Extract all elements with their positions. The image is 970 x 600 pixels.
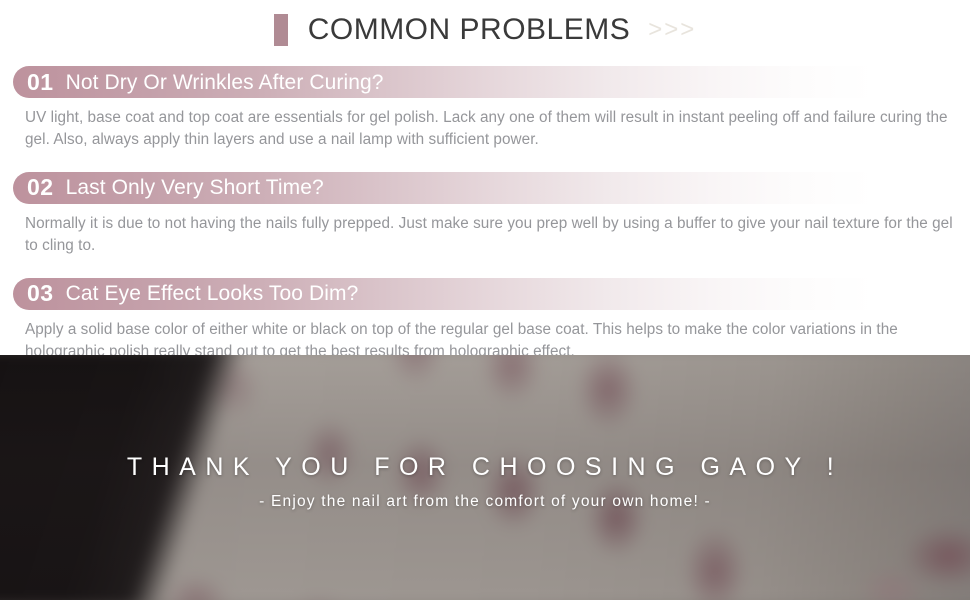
faq-question-banner: 02 Last Only Very Short Time? bbox=[13, 172, 970, 204]
infographic-page: COMMON PROBLEMS >>> 01 Not Dry Or Wrinkl… bbox=[0, 0, 970, 600]
faq-question-text: Last Only Very Short Time? bbox=[66, 177, 324, 198]
faq-question-text: Cat Eye Effect Looks Too Dim? bbox=[66, 283, 359, 304]
faq-item: 03 Cat Eye Effect Looks Too Dim? Apply a… bbox=[0, 278, 970, 364]
thank-you-headline: THANK YOU FOR CHOOSING GAOY ! bbox=[0, 453, 970, 482]
footer-copy: THANK YOU FOR CHOOSING GAOY ! - Enjoy th… bbox=[0, 453, 970, 511]
chevrons-right-icon: >>> bbox=[648, 16, 696, 44]
footer-photo-banner: THANK YOU FOR CHOOSING GAOY ! - Enjoy th… bbox=[0, 355, 970, 600]
faq-item: 01 Not Dry Or Wrinkles After Curing? UV … bbox=[0, 66, 970, 152]
faq-number-badge: 03 bbox=[27, 282, 54, 305]
thank-you-subline: - Enjoy the nail art from the comfort of… bbox=[0, 493, 970, 511]
page-title: COMMON PROBLEMS bbox=[308, 13, 631, 47]
faq-number-badge: 02 bbox=[27, 176, 54, 199]
faq-question-banner: 03 Cat Eye Effect Looks Too Dim? bbox=[13, 278, 970, 310]
faq-item: 02 Last Only Very Short Time? Normally i… bbox=[0, 172, 970, 258]
faq-question-banner: 01 Not Dry Or Wrinkles After Curing? bbox=[13, 66, 970, 98]
faq-answer-text: UV light, base coat and top coat are ess… bbox=[25, 107, 956, 152]
faq-answer-text: Normally it is due to not having the nai… bbox=[25, 213, 956, 258]
faq-question-text: Not Dry Or Wrinkles After Curing? bbox=[66, 72, 384, 93]
section-header: COMMON PROBLEMS >>> bbox=[0, 0, 970, 58]
accent-bar-icon bbox=[274, 14, 288, 46]
faq-number-badge: 01 bbox=[27, 71, 54, 94]
faq-list: 01 Not Dry Or Wrinkles After Curing? UV … bbox=[0, 66, 970, 364]
